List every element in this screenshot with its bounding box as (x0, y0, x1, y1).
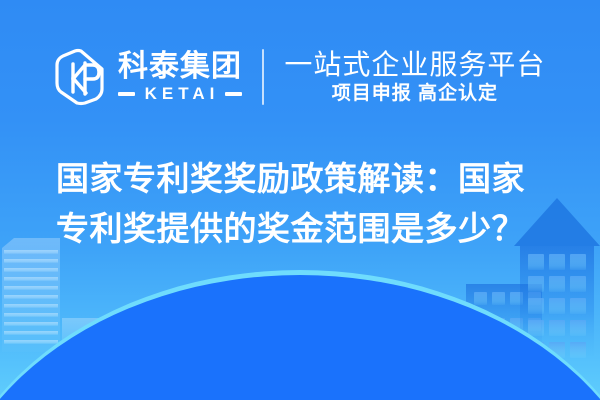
brand-logo-wordmark: 科泰集团 KETAI (118, 52, 243, 102)
dash-left-decoration (118, 92, 135, 96)
tagline-primary: 一站式企业服务平台 (284, 50, 545, 79)
building-left-tower (2, 238, 60, 352)
banner-header: 科泰集团 KETAI 一站式企业服务平台 项目申报 高企认定 (0, 38, 600, 116)
article-cover-banner: 科泰集团 KETAI 一站式企业服务平台 项目申报 高企认定 国家专利奖奖励政策… (0, 0, 600, 400)
page-title: 国家专利奖奖励政策解读：国家专利奖提供的奖金范围是多少？ (56, 154, 548, 254)
dash-right-decoration (225, 92, 242, 96)
brand-name-en-row: KETAI (118, 85, 243, 102)
tagline-secondary: 项目申报 高企认定 (332, 84, 498, 104)
brand-logo: 科泰集团 KETAI (55, 48, 243, 106)
brand-name-en: KETAI (141, 85, 220, 102)
ketai-kp-monogram-logo-icon (55, 48, 107, 106)
header-divider (262, 49, 264, 105)
brand-tagline: 一站式企业服务平台 项目申报 高企认定 (284, 50, 545, 103)
brand-name-cn: 科泰集团 (118, 52, 242, 82)
